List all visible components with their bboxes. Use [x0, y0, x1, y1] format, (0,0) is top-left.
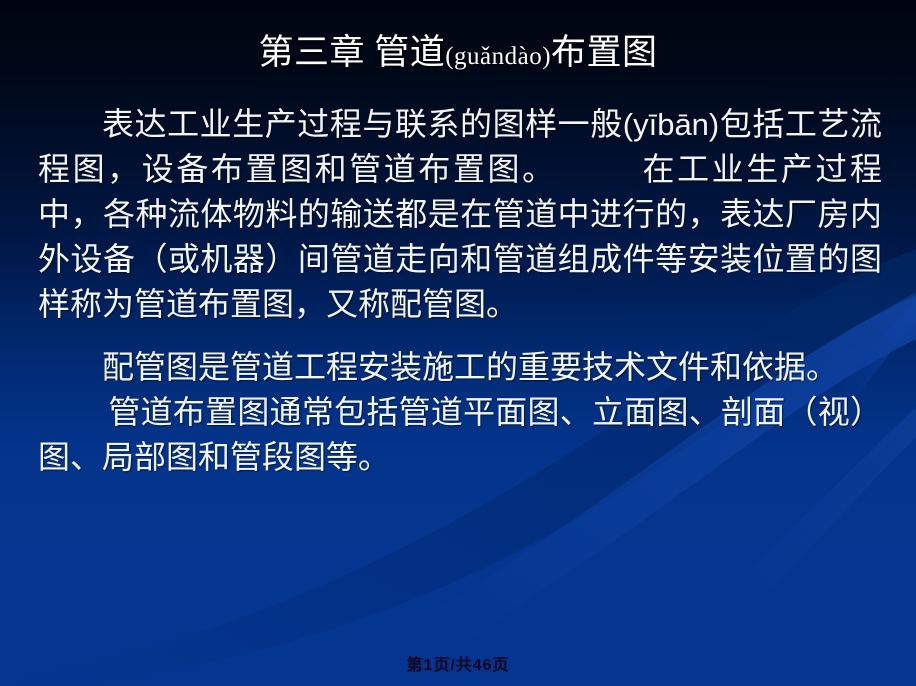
page-label-overlay: 第1页/共46页: [0, 655, 916, 677]
body-paragraph-3: 管道布置图通常包括管道平面图、立面图、剖面（视）图、局部图和管段图等。: [38, 390, 882, 480]
title-suffix: 布置图: [551, 33, 658, 72]
paragraph1-pinyin: (yībān): [623, 107, 719, 142]
presentation-slide: 第三章 管道(guǎndào)布置图 表达工业生产过程与联系的图样一般(yībā…: [0, 0, 916, 686]
slide-title: 第三章 管道(guǎndào)布置图: [0, 30, 916, 80]
title-pinyin: (guǎndào): [445, 43, 551, 70]
body-paragraph-1: 表达工业生产过程与联系的图样一般(yībān)包括工艺流程图，设备布置图和管道布…: [38, 102, 882, 327]
slide-body: 表达工业生产过程与联系的图样一般(yībān)包括工艺流程图，设备布置图和管道布…: [38, 102, 882, 480]
footer-page-indicator: 第1页/共46页 第1页/共46页: [0, 655, 916, 677]
title-prefix: 第三章 管道: [258, 33, 445, 72]
paragraph1-part1: 表达工业生产过程与联系的图样一般: [102, 106, 623, 142]
body-paragraph-2: 配管图是管道工程安装施工的重要技术文件和依据。: [38, 345, 882, 390]
